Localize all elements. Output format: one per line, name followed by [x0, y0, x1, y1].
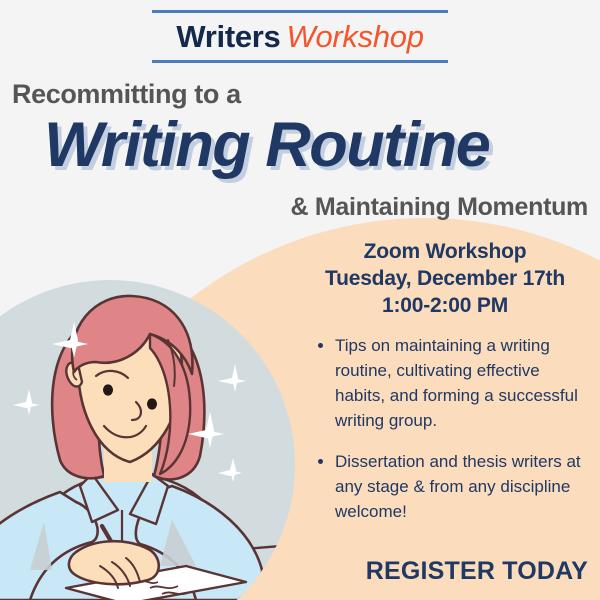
event-details: Zoom Workshop Tuesday, December 17th 1:0… [300, 238, 590, 319]
event-line-date: Tuesday, December 17th [300, 265, 590, 292]
event-line-title: Zoom Workshop [300, 238, 590, 265]
bullet-text: Tips on maintaining a writing routine, c… [335, 336, 578, 430]
eye-left [103, 384, 113, 395]
brand-rule-bottom [152, 60, 448, 63]
eye-right [147, 398, 157, 409]
bullet-item: Tips on maintaining a writing routine, c… [316, 333, 590, 433]
bullet-text: Dissertation and thesis writers at any s… [335, 452, 581, 521]
illustration-woman-writing [0, 270, 330, 600]
brand-word-writers: Writers [176, 19, 280, 54]
bullet-item: Dissertation and thesis writers at any s… [316, 449, 590, 524]
headline-main: Writing Routine [44, 108, 489, 182]
brand-lockup: WritersWorkshop [0, 10, 600, 63]
brand-word-workshop: Workshop [287, 19, 424, 54]
brand-rule-top [152, 10, 448, 13]
event-line-time: 1:00-2:00 PM [300, 292, 590, 319]
bullet-dot-icon [318, 343, 323, 348]
bullet-list: Tips on maintaining a writing routine, c… [300, 333, 590, 524]
event-info-block: Zoom Workshop Tuesday, December 17th 1:0… [300, 238, 590, 524]
register-today-cta[interactable]: REGISTER TODAY [300, 556, 588, 586]
poster-canvas: WritersWorkshop Recommitting to a Writin… [0, 0, 600, 600]
bullet-dot-icon [318, 459, 323, 464]
brand-title: WritersWorkshop [0, 17, 600, 57]
headline-kicker: Recommitting to a [12, 78, 241, 110]
headline-subhead: & Maintaining Momentum [290, 192, 588, 222]
